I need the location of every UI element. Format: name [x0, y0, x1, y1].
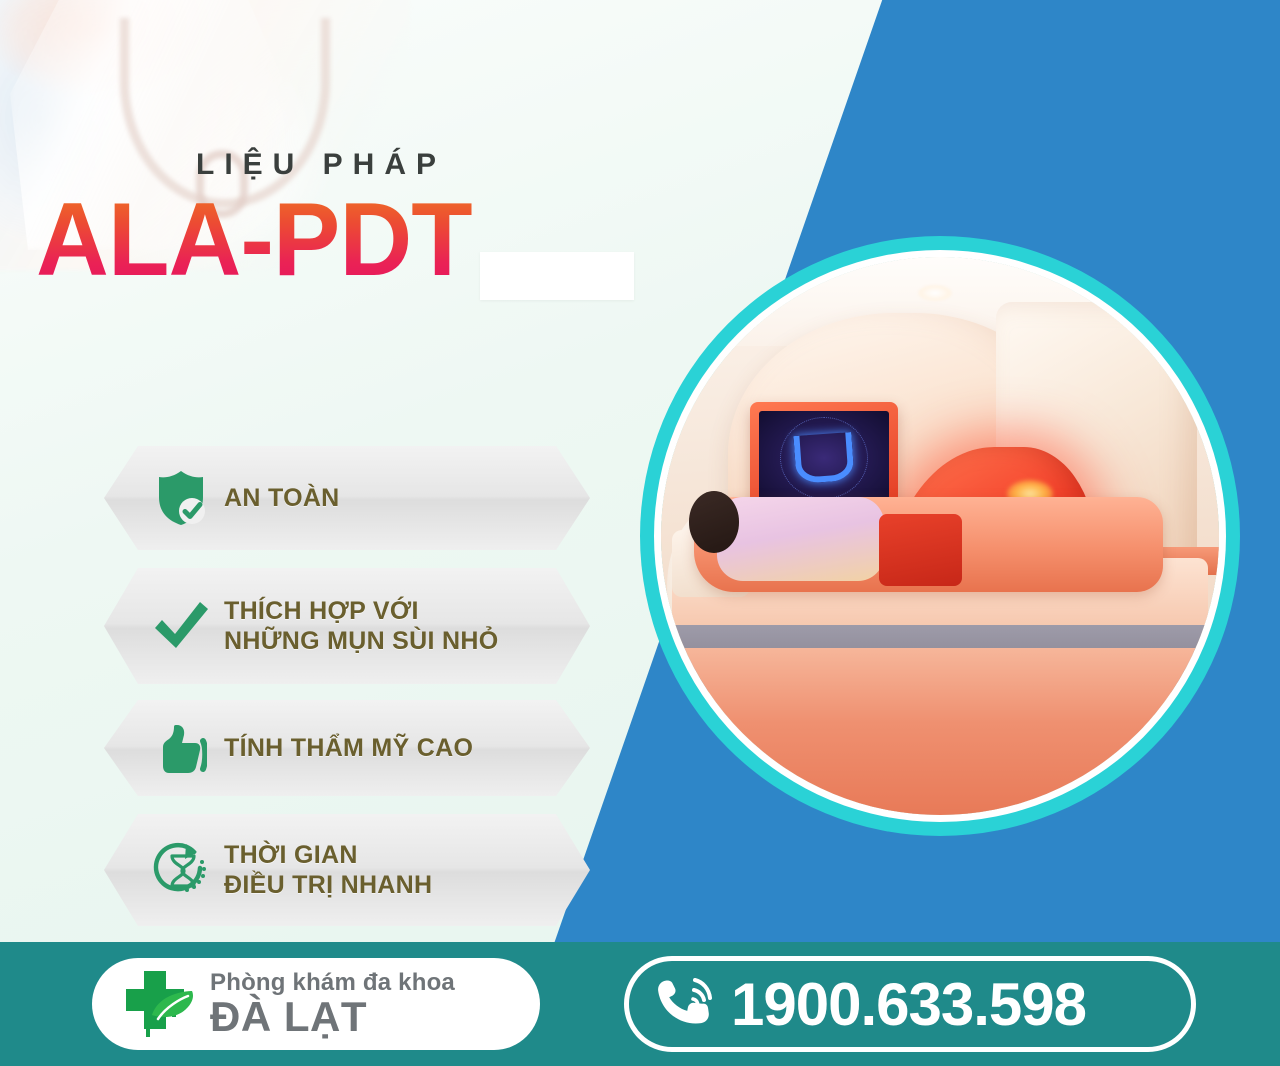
- fast-time-icon: [138, 840, 224, 900]
- treatment-photo: [661, 257, 1219, 815]
- clinic-name-block: Phòng khám đa khoa ĐÀ LẠT: [210, 970, 455, 1038]
- page-kicker: LIỆU PHÁP: [196, 148, 446, 182]
- patient-head: [689, 491, 739, 552]
- treatment-photo-white-border: [654, 250, 1226, 822]
- feature-label-line-1: THỜI GIAN: [224, 841, 358, 869]
- hotline-button[interactable]: 1900.633.598: [624, 956, 1196, 1052]
- clinic-branding-pill[interactable]: Phòng khám đa khoa ĐÀ LẠT: [92, 958, 540, 1050]
- hotline-number: 1900.633.598: [731, 970, 1086, 1039]
- feature-badge-label: TÍNH THẨM MỸ CAO: [224, 733, 473, 764]
- patient-clothing: [717, 497, 884, 581]
- poster-canvas: LIỆU PHÁP ALA-PDT AN TOÀN THÍCH HỢP VỚI: [0, 0, 1280, 1066]
- footer-bar: Phòng khám đa khoa ĐÀ LẠT 1900.633.598: [0, 942, 1280, 1066]
- green-cross-leaf-icon: [118, 967, 200, 1041]
- clinic-name: ĐÀ LẠT: [210, 996, 455, 1038]
- feature-label-line-2: NHỮNG MỤN SÙI NHỎ: [224, 627, 498, 655]
- treatment-photo-ring: [640, 236, 1240, 836]
- feature-badge-label: AN TOÀN: [224, 483, 340, 514]
- feature-badge-tham-my[interactable]: TÍNH THẨM MỸ CAO: [104, 700, 590, 796]
- feature-badge-an-toan[interactable]: AN TOÀN: [104, 446, 590, 550]
- treatment-bed: [661, 648, 1219, 815]
- page-title: ALA-PDT: [36, 188, 472, 292]
- feature-badge-label: THỜI GIAN ĐIỀU TRỊ NHANH: [224, 840, 432, 901]
- thumbs-up-icon: [138, 721, 224, 775]
- feature-badge-label: THÍCH HỢP VỚI NHỮNG MỤN SÙI NHỎ: [224, 596, 498, 657]
- feature-badge-thich-hop[interactable]: THÍCH HỢP VỚI NHỮNG MỤN SÙI NHỎ: [104, 568, 590, 684]
- feature-label-line-2: ĐIỀU TRỊ NHANH: [224, 871, 432, 899]
- ceiling-light-icon: [918, 285, 952, 301]
- feature-badge-thoi-gian[interactable]: THỜI GIAN ĐIỀU TRỊ NHANH: [104, 814, 590, 926]
- blank-placeholder-box: [480, 252, 634, 300]
- patient-shorts: [879, 514, 963, 587]
- phone-call-icon: [655, 972, 717, 1037]
- feature-label-line-1: THÍCH HỢP VỚI: [224, 597, 419, 625]
- shield-check-icon: [138, 469, 224, 527]
- check-mark-icon: [138, 598, 224, 654]
- monitor-screen-graphic: [759, 411, 889, 505]
